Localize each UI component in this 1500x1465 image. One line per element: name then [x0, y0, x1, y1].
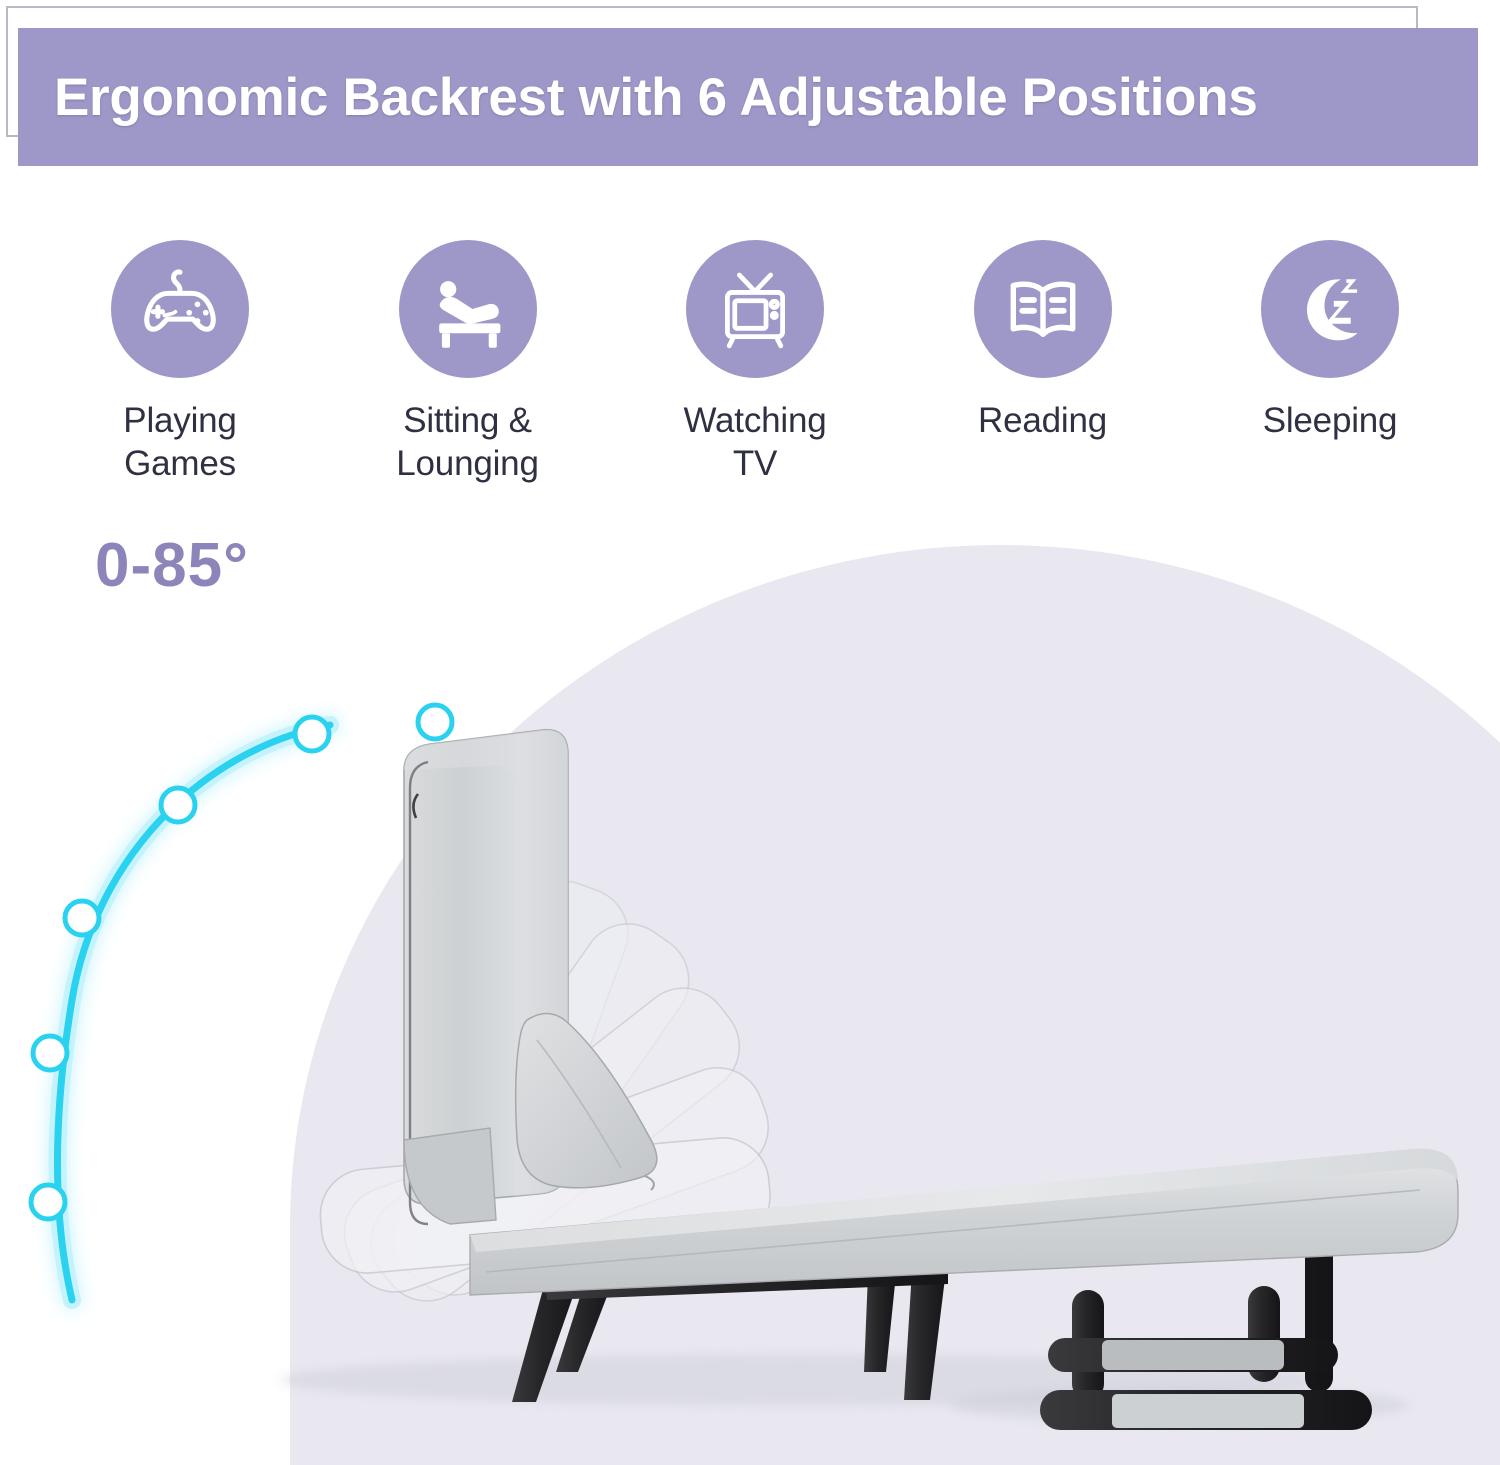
arc-marker[interactable]	[65, 901, 99, 935]
handle-crossbar-upper-pad	[1102, 1340, 1284, 1370]
use-case-icon-badge	[1261, 240, 1399, 378]
use-case-icon-badge	[974, 240, 1112, 378]
use-case-item-sitting-lounging[interactable]: Sitting & Lounging	[348, 240, 588, 485]
use-case-label-line1: Sleeping	[1263, 401, 1398, 440]
handle-crossbar-lower-pad	[1112, 1394, 1304, 1428]
use-case-label-line1: Watching	[684, 401, 827, 440]
use-case-label-line1: Playing	[123, 401, 236, 440]
arc-marker[interactable]	[418, 705, 452, 739]
use-case-label: Sleeping	[1263, 400, 1398, 443]
use-case-label-line1: Reading	[978, 401, 1107, 440]
infographic-canvas: Ergonomic Backrest with 6 Adjustable Pos…	[0, 0, 1500, 1465]
moon-zzz-icon	[1284, 263, 1376, 355]
product-illustration: 0-85°	[0, 500, 1500, 1465]
use-case-label: Playing Games	[123, 400, 236, 485]
arc-marker[interactable]	[31, 1185, 65, 1219]
use-case-label: Reading	[978, 400, 1107, 443]
use-case-list: Playing Games Sitting & Lounging	[60, 240, 1450, 500]
use-case-item-reading[interactable]: Reading	[923, 240, 1163, 443]
use-case-label-line1: Sitting &	[403, 401, 532, 440]
arc-marker[interactable]	[33, 1036, 67, 1070]
use-case-label-line2: Lounging	[396, 444, 538, 483]
use-case-item-playing-games[interactable]: Playing Games	[60, 240, 300, 485]
arc-marker[interactable]	[295, 717, 329, 751]
use-case-label: Watching TV	[684, 400, 827, 485]
use-case-label: Sitting & Lounging	[396, 400, 538, 485]
arc-marker[interactable]	[161, 788, 195, 822]
use-case-icon-badge	[111, 240, 249, 378]
page-title: Ergonomic Backrest with 6 Adjustable Pos…	[18, 28, 1478, 166]
use-case-icon-badge	[399, 240, 537, 378]
gamepad-icon	[134, 263, 226, 355]
use-case-item-sleeping[interactable]: Sleeping	[1210, 240, 1450, 443]
use-case-label-line2: Games	[124, 444, 236, 483]
use-case-icon-badge	[686, 240, 824, 378]
lounger-icon	[423, 264, 513, 354]
product-scene: 0-85°	[0, 500, 1500, 1465]
open-book-icon	[998, 264, 1088, 354]
use-case-item-watching-tv[interactable]: Watching TV	[635, 240, 875, 485]
use-case-label-line2: TV	[733, 444, 777, 483]
angle-range-label: 0-85°	[95, 531, 249, 600]
television-icon	[709, 263, 801, 355]
